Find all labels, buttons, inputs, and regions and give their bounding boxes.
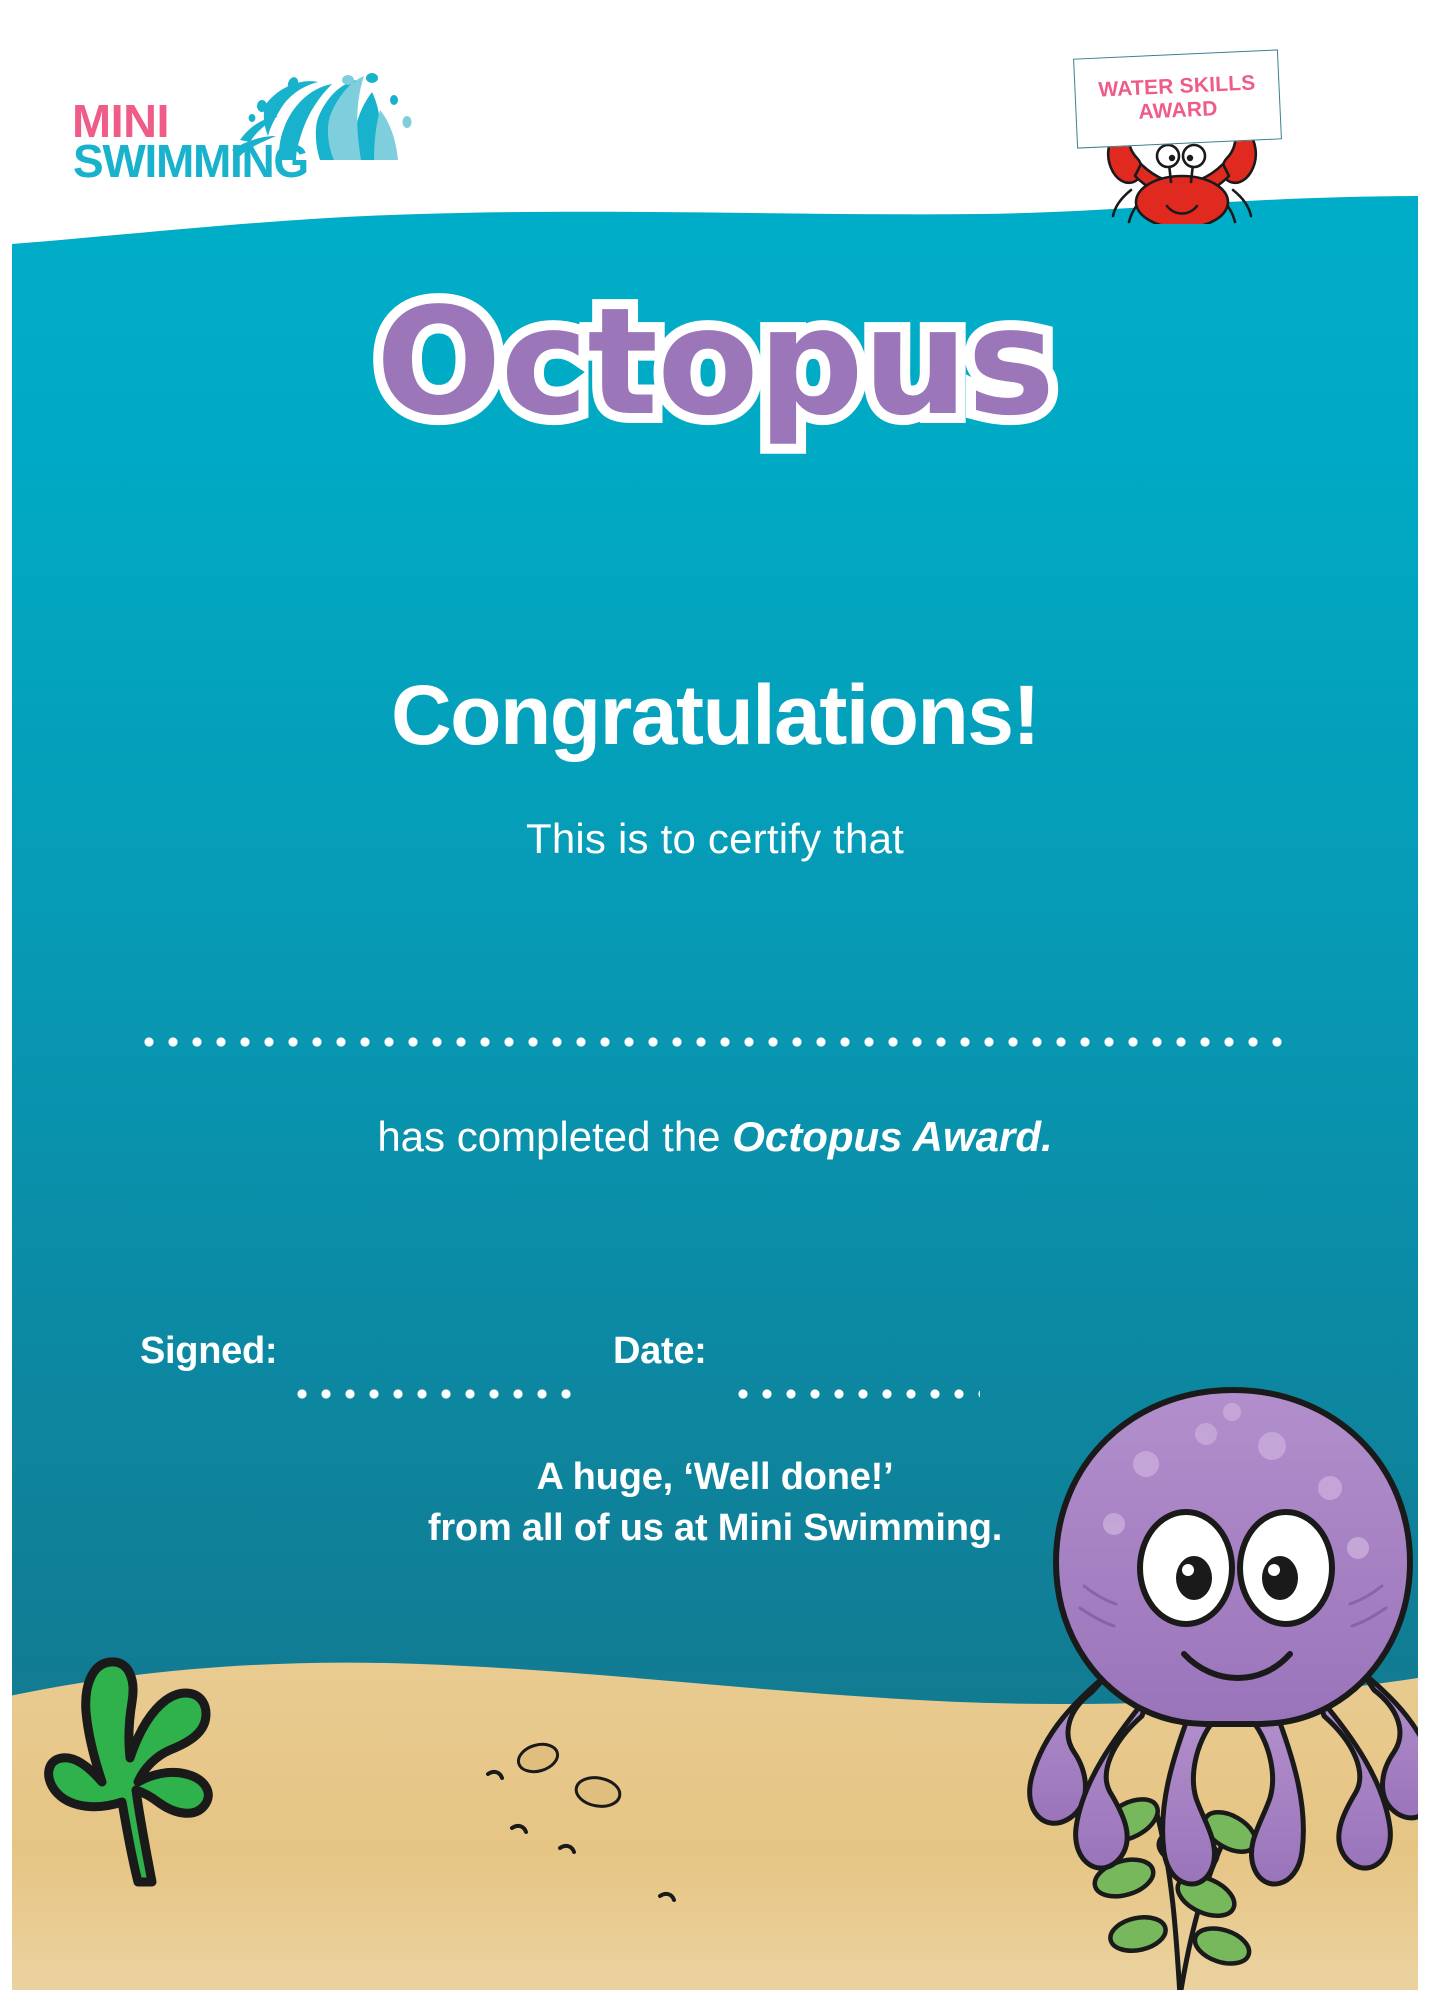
page-edge-right	[1418, 0, 1430, 2000]
page-edge-left	[0, 0, 12, 2000]
message-line-2: from all of us at Mini Swimming.	[0, 1503, 1430, 1554]
certificate-header: MINI SWIMMING	[0, 0, 1430, 230]
completed-award-line: has completed the Octopus Award.	[0, 1112, 1430, 1162]
award-title-wrap: Octopus	[0, 288, 1430, 436]
certificate-page: MINI SWIMMING	[0, 0, 1430, 2000]
seaweed-icon	[10, 1582, 310, 1892]
signature-row: Signed: Date:	[0, 1330, 1430, 1410]
signature-field[interactable]	[296, 1388, 575, 1400]
award-name: Octopus Award.	[732, 1113, 1052, 1160]
badge-line-2: AWARD	[1138, 97, 1218, 124]
badge-line-1: WATER SKILLS	[1098, 72, 1256, 103]
mini-swimming-logo[interactable]: MINI SWIMMING	[70, 78, 390, 188]
date-label: Date:	[613, 1330, 707, 1373]
logo-line-swimming: SWIMMING	[73, 134, 308, 188]
award-title: Octopus	[376, 288, 1054, 436]
water-skills-award-badge: WATER SKILLS AWARD	[1075, 48, 1375, 226]
certify-text: This is to certify that	[0, 818, 1430, 860]
closing-message: A huge, ‘Well done!’ from all of us at M…	[0, 1452, 1430, 1555]
recipient-name-field[interactable]	[143, 1036, 1287, 1048]
message-line-1: A huge, ‘Well done!’	[0, 1452, 1430, 1503]
page-edge-bottom	[0, 1990, 1430, 2000]
dotted-line	[143, 1036, 1287, 1048]
completed-prefix: has completed the	[377, 1113, 732, 1160]
date-field[interactable]	[737, 1388, 980, 1400]
award-sign: WATER SKILLS AWARD	[1073, 49, 1282, 148]
signed-label: Signed:	[140, 1330, 277, 1373]
congratulations-heading: Congratulations!	[0, 673, 1430, 757]
